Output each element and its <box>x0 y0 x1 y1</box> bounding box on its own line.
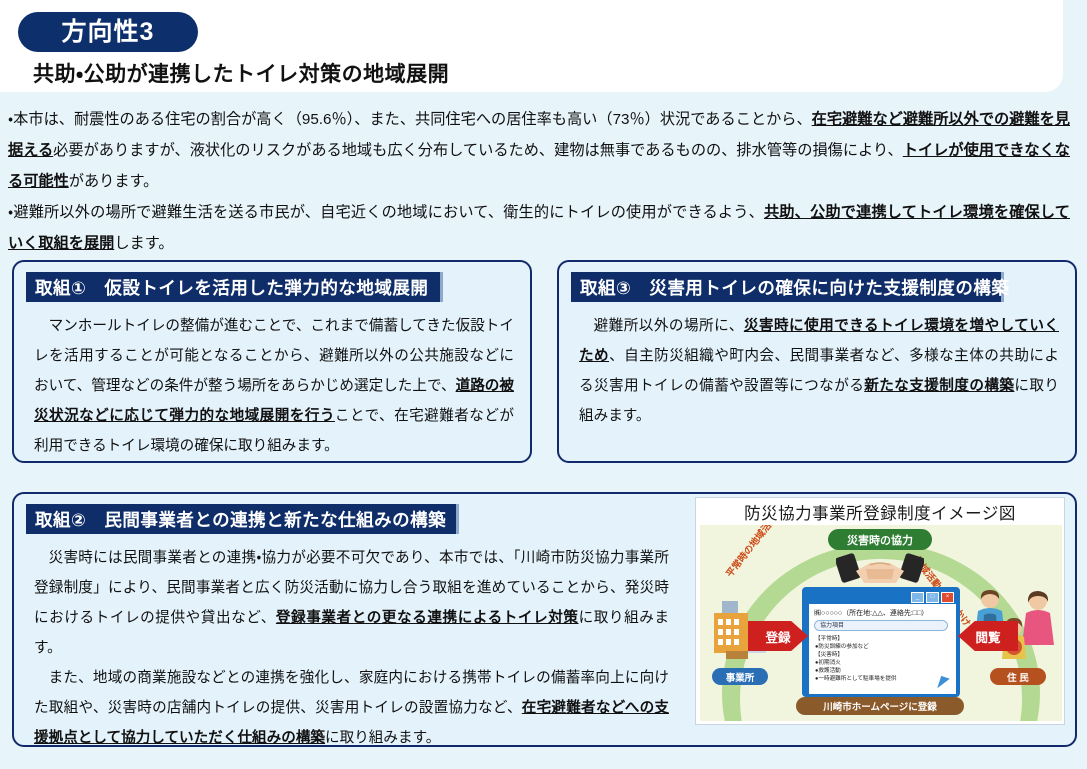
intro-section: ・本市は、耐震性のある住宅の割合が高く（95.6％）、また、共同住宅への居住率も… <box>8 104 1070 259</box>
diagram-title: 防災協力事業所登録制度イメージ図 <box>696 500 1064 524</box>
initiative-3-paragraph: 避難所以外の場所に、災害時に使用できるトイレ環境を増やしていくため、自主防災組織… <box>579 311 1059 431</box>
intro-p2-pre: ・避難所以外の場所で避難生活を送る市民が、自宅近くの地域において、衛生的にトイレ… <box>8 204 764 221</box>
intro-paragraph-1: ・本市は、耐震性のある住宅の割合が高く（95.6％）、また、共同住宅への居住率も… <box>8 104 1070 197</box>
initiative-1-heading: 取組① 仮設トイレを活用した弾力的な地域展開 <box>26 272 443 302</box>
initiative-2-paragraph-1: 災害時には民間事業者との連携・協力が必要不可欠であり、本市では、「川崎市防災協力… <box>34 543 669 663</box>
initiative-box-3: 取組③ 災害用トイレの確保に向けた支援制度の構築 避難所以外の場所に、災害時に使… <box>557 260 1077 463</box>
list-item: 【平常時】 <box>815 635 897 643</box>
initiative-2-paragraph-2: また、地域の商業施設などとの連携を強化し、家庭内における携帯トイレの備蓄率向上に… <box>34 663 669 753</box>
intro-p1-pre: ・本市は、耐震性のある住宅の割合が高く（95.6％）、また、共同住宅への居住率も… <box>8 111 812 128</box>
mouse-cursor-icon <box>937 676 950 691</box>
list-item: ●救護活動 <box>815 667 897 675</box>
initiative-1-pre: マンホールトイレの整備が進むことで、これまで備蓄してきた仮設トイレを活用すること… <box>34 318 514 394</box>
header-card: 方向性3 共助・公助が連携したトイレ対策の地域展開 <box>0 0 1063 92</box>
cooperation-items-list: 【平常時】 ●防災訓練の参加など 【災害時】 ●初期消火 ●救護活動 ●一時避難… <box>815 635 897 683</box>
initiative-box-2: 取組② 民間事業者との連携と新たな仕組みの構築 災害時には民間事業者との連携・協… <box>12 492 1077 747</box>
list-item: ●初期消火 <box>815 659 897 667</box>
intro-p1-post: があります。 <box>69 173 159 190</box>
window-close-icon[interactable]: × <box>941 592 954 603</box>
direction-pill: 方向性3 <box>18 12 198 52</box>
page-root: { "header": { "pill_label": "方向性3", "sub… <box>0 0 1087 769</box>
initiative-2-heading: 取組② 民間事業者との連携と新たな仕組みの構築 <box>26 504 459 534</box>
list-item: ●防災訓練の参加など <box>815 643 897 651</box>
intro-p1-mid: 必要がありますが、液状化のリスクがある地域も広く分布しているため、建物は無事であ… <box>53 142 903 159</box>
initiative-3-emphasis-2: 新たな支援制度の構築 <box>864 378 1014 394</box>
company-name-line: ㈱○○○○○（所在地:△△、連絡先:□□） <box>814 608 928 618</box>
window-controls: _ □ × <box>911 592 954 603</box>
register-arrow-label: 登録 <box>765 627 790 646</box>
tag-office: 事業所 <box>712 668 768 685</box>
initiative-1-paragraph: マンホールトイレの整備が進むことで、これまで備蓄してきた仮設トイレを活用すること… <box>34 311 514 461</box>
intro-p2-post: します。 <box>114 235 173 252</box>
tag-register-on-city-website: 川崎市ホームページに登録 <box>796 697 964 715</box>
arc-left-label: 平常時の地域活動 <box>722 525 780 580</box>
initiative-2-p2-post: に取り組みます。 <box>325 730 440 746</box>
direction-pill-label: 方向性3 <box>62 20 155 45</box>
diagram-panel: 防災協力事業所登録制度イメージ図 平常時の地域活動 地域活動の呼びかけ 災害時の… <box>695 497 1065 725</box>
list-item: ●一時避難所として駐車場を提供 <box>815 675 897 683</box>
diagram-canvas: 平常時の地域活動 地域活動の呼びかけ 災害時の協力 _ □ × ㈱○○○○○ <box>700 525 1062 721</box>
initiative-2-body: 災害時には民間事業者との連携・協力が必要不可欠であり、本市では、「川崎市防災協力… <box>34 543 669 753</box>
registry-browser-window: _ □ × ㈱○○○○○（所在地:△△、連絡先:□□） 協力項目 【平常時】 ●… <box>802 587 960 697</box>
initiative-3-body: 避難所以外の場所に、災害時に使用できるトイレ環境を増やしていくため、自主防災組織… <box>579 311 1059 431</box>
initiative-3-heading: 取組③ 災害用トイレの確保に向けた支援制度の構築 <box>571 272 1004 302</box>
cooperation-items-field: 協力項目 <box>814 620 948 631</box>
tag-resident: 住 民 <box>990 668 1046 685</box>
initiative-2-p1-emphasis: 登録事業者との更なる連携によるトイレ対策 <box>276 610 579 626</box>
browse-arrow-label: 閲覧 <box>975 627 1000 646</box>
window-maximize-icon[interactable]: □ <box>926 592 939 603</box>
page-title: 共助・公助が連携したトイレ対策の地域展開 <box>33 58 449 88</box>
initiative-1-body: マンホールトイレの整備が進むことで、これまで備蓄してきた仮設トイレを活用すること… <box>34 311 514 461</box>
list-item: 【災害時】 <box>815 651 897 659</box>
browser-page-content: ㈱○○○○○（所在地:△△、連絡先:□□） 協力項目 【平常時】 ●防災訓練の参… <box>809 604 956 694</box>
initiative-box-1: 取組① 仮設トイレを活用した弾力的な地域展開 マンホールトイレの整備が進むことで… <box>12 260 532 463</box>
intro-paragraph-2: ・避難所以外の場所で避難生活を送る市民が、自宅近くの地域において、衛生的にトイレ… <box>8 197 1070 259</box>
window-minimize-icon[interactable]: _ <box>911 592 924 603</box>
initiative-3-pre: 避難所以外の場所に、 <box>594 318 744 334</box>
disaster-cooperation-pill: 災害時の協力 <box>828 529 932 550</box>
